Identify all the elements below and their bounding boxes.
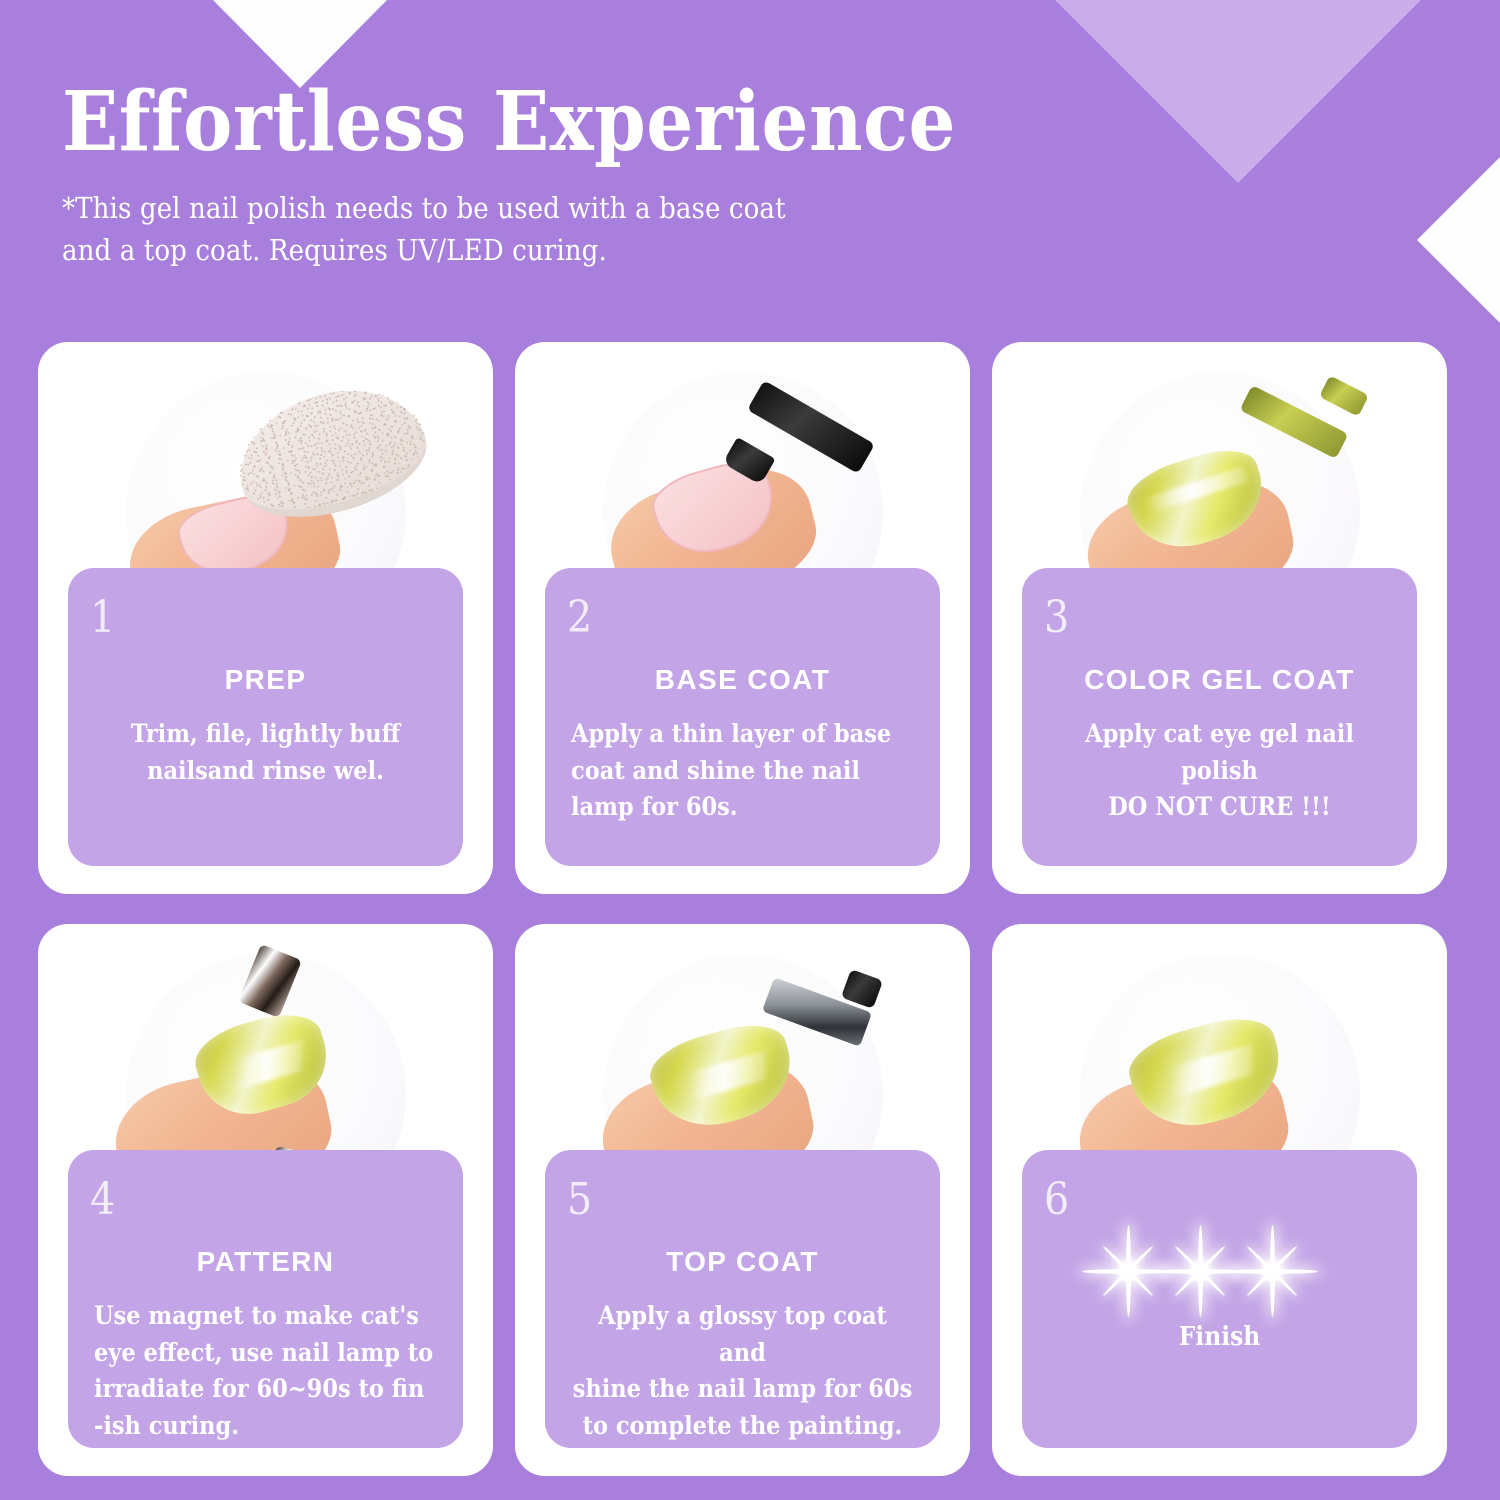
step-description: Use magnet to make cat's eye effect, use… (94, 1298, 437, 1444)
steps-grid: 1 PREP Trim, file, lightly buff nailsand… (38, 342, 1462, 1476)
step-card-6: 6 Finish (992, 924, 1447, 1476)
step-number: 1 (90, 596, 115, 640)
step-card-1: 1 PREP Trim, file, lightly buff nailsand… (38, 342, 493, 894)
page-title: Effortless Experience (62, 82, 1112, 162)
sparkle-icon (1224, 1223, 1320, 1319)
step-title: TOP COAT (571, 1246, 914, 1278)
step-number: 2 (567, 596, 592, 640)
step-6-panel: 6 Finish (1022, 1150, 1417, 1448)
step-card-2: 2 BASE COAT Apply a thin layer of base c… (515, 342, 970, 894)
step-number: 5 (567, 1178, 592, 1222)
step-title: PREP (94, 664, 437, 696)
step-number: 3 (1044, 596, 1069, 640)
header: Effortless Experience *This gel nail pol… (62, 82, 1112, 271)
step-number: 6 (1044, 1178, 1069, 1222)
step-5-panel: 5 TOP COAT Apply a glossy top coat and s… (545, 1150, 940, 1448)
step-description: Apply cat eye gel nail polish DO NOT CUR… (1048, 716, 1391, 826)
step-number: 4 (90, 1178, 115, 1222)
sparkle-group (1048, 1234, 1391, 1308)
step-3-panel: 3 COLOR GEL COAT Apply cat eye gel nail … (1022, 568, 1417, 866)
step-title: COLOR GEL COAT (1048, 664, 1391, 696)
finish-label: Finish (1048, 1322, 1391, 1352)
step-4-panel: 4 PATTERN Use magnet to make cat's eye e… (68, 1150, 463, 1448)
step-title: BASE COAT (571, 664, 914, 696)
page-subtitle: *This gel nail polish needs to be used w… (62, 188, 1112, 270)
step-title: PATTERN (94, 1246, 437, 1278)
step-1-panel: 1 PREP Trim, file, lightly buff nailsand… (68, 568, 463, 866)
gold-brush-handle-illustration (1319, 375, 1369, 416)
step-description: Trim, file, lightly buff nailsand rinse … (94, 716, 437, 789)
white-arrow-right-icon (1417, 148, 1500, 332)
step-2-panel: 2 BASE COAT Apply a thin layer of base c… (545, 568, 940, 866)
step-card-5: 5 TOP COAT Apply a glossy top coat and s… (515, 924, 970, 1476)
step-description: Apply a glossy top coat and shine the na… (571, 1298, 914, 1444)
step-card-3: 3 COLOR GEL COAT Apply cat eye gel nail … (992, 342, 1447, 894)
step-description: Apply a thin layer of base coat and shin… (571, 716, 914, 826)
step-card-4: 4 PATTERN Use magnet to make cat's eye e… (38, 924, 493, 1476)
